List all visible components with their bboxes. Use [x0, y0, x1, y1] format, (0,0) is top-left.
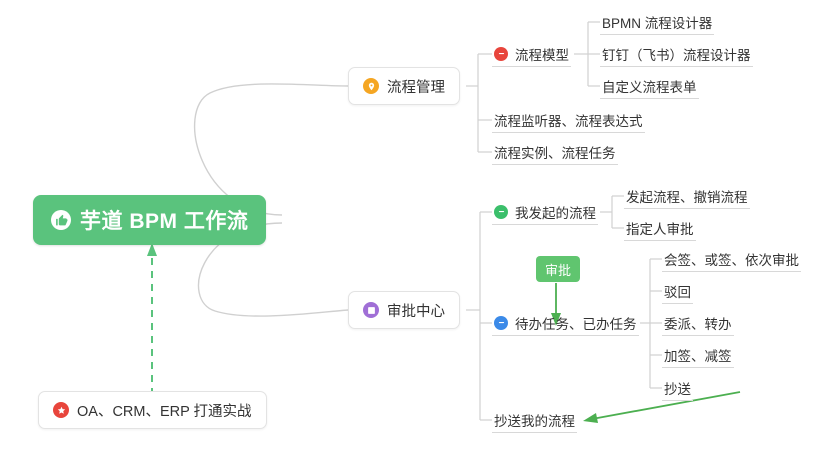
minus-circle-blue-icon: [494, 316, 508, 330]
node-listener-expression[interactable]: 流程监听器、流程表达式: [492, 107, 645, 133]
root-node[interactable]: 芋道 BPM 工作流: [33, 195, 266, 245]
node-oa-crm-erp-label: OA、CRM、ERP 打通实战: [77, 400, 252, 421]
branch-process-management[interactable]: 流程管理: [348, 67, 460, 105]
node-start-cancel-process-label: 发起流程、撤销流程: [626, 186, 748, 206]
form-icon: [363, 302, 379, 318]
node-bpmn-designer-label: BPMN 流程设计器: [602, 12, 712, 32]
star-icon: [53, 402, 69, 418]
node-multi-sign-label: 会签、或签、依次审批: [664, 249, 799, 269]
node-todo-done-tasks-label: 待办任务、已办任务: [515, 313, 637, 333]
node-todo-done-tasks[interactable]: 待办任务、已办任务: [492, 310, 639, 336]
minus-circle-icon: [494, 47, 508, 61]
node-delegate-transfer-label: 委派、转办: [664, 313, 732, 333]
node-assign-approver-label: 指定人审批: [626, 218, 694, 238]
node-cc[interactable]: 抄送: [662, 375, 693, 401]
node-my-initiated[interactable]: 我发起的流程: [492, 199, 598, 225]
node-add-reduce-sign-label: 加签、减签: [664, 345, 732, 365]
mindmap-canvas: 芋道 BPM 工作流 流程管理 审批中心 OA、CRM、ERP 打通实战: [0, 0, 814, 453]
thumbs-up-icon: [51, 210, 71, 230]
node-instance-task-label: 流程实例、流程任务: [494, 142, 616, 162]
node-assign-approver[interactable]: 指定人审批: [624, 215, 696, 241]
node-oa-crm-erp[interactable]: OA、CRM、ERP 打通实战: [38, 391, 267, 429]
node-bpmn-designer[interactable]: BPMN 流程设计器: [600, 9, 714, 35]
node-my-initiated-label: 我发起的流程: [515, 202, 596, 222]
branch-approval-center[interactable]: 审批中心: [348, 291, 460, 329]
node-custom-form[interactable]: 自定义流程表单: [600, 73, 699, 99]
node-multi-sign[interactable]: 会签、或签、依次审批: [662, 246, 801, 272]
node-listener-expression-label: 流程监听器、流程表达式: [494, 110, 643, 130]
location-pin-icon: [363, 78, 379, 94]
node-delegate-transfer[interactable]: 委派、转办: [662, 310, 734, 336]
node-dingtalk-designer[interactable]: 钉钉（飞书）流程设计器: [600, 41, 753, 67]
node-process-model-label: 流程模型: [515, 44, 569, 64]
branch-approval-center-label: 审批中心: [387, 300, 445, 321]
node-cc-to-me[interactable]: 抄送我的流程: [492, 407, 577, 433]
node-reject-label: 驳回: [664, 281, 691, 301]
node-dingtalk-designer-label: 钉钉（飞书）流程设计器: [602, 44, 751, 64]
node-cc-label: 抄送: [664, 378, 691, 398]
tag-approval-label: 审批: [545, 260, 571, 279]
node-cc-to-me-label: 抄送我的流程: [494, 410, 575, 430]
node-reject[interactable]: 驳回: [662, 278, 693, 304]
node-start-cancel-process[interactable]: 发起流程、撤销流程: [624, 183, 750, 209]
root-label: 芋道 BPM 工作流: [80, 205, 248, 235]
node-custom-form-label: 自定义流程表单: [602, 76, 697, 96]
node-process-model[interactable]: 流程模型: [492, 41, 571, 67]
node-instance-task[interactable]: 流程实例、流程任务: [492, 139, 618, 165]
branch-process-management-label: 流程管理: [387, 76, 445, 97]
node-add-reduce-sign[interactable]: 加签、减签: [662, 342, 734, 368]
minus-circle-green-icon: [494, 205, 508, 219]
tag-approval[interactable]: 审批: [536, 256, 580, 282]
